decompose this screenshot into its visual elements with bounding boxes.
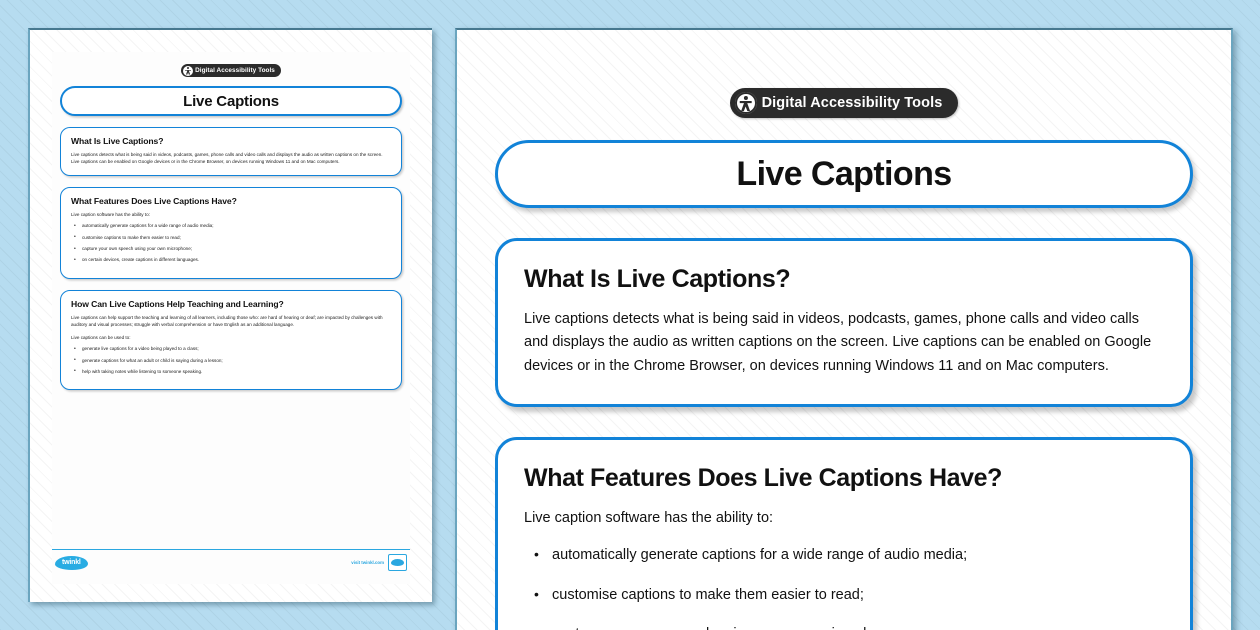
thumbnail-card-1-paragraph: Live captions detects what is being said…: [71, 151, 391, 166]
preview-content-area: Digital Accessibility Tools Live Caption…: [457, 30, 1231, 630]
list-item: customise captions to make them easier t…: [524, 585, 1164, 607]
thumbnail-accessibility-badge: Digital Accessibility Tools: [181, 64, 281, 77]
list-item: generate captions for what an adult or c…: [71, 358, 391, 365]
list-item: capture your own speech using your own m…: [524, 624, 1164, 630]
thumbnail-card-2: What Features Does Live Captions Have? L…: [60, 187, 402, 279]
thumbnail-page-title: Live Captions: [183, 93, 279, 110]
thumbnail-card-2-heading: What Features Does Live Captions Have?: [71, 196, 391, 206]
preview-card-2-list: automatically generate captions for a wi…: [524, 545, 1164, 630]
preview-title-box: Live Captions: [495, 140, 1193, 208]
thumbnail-footer-right: visit twinkl.com: [351, 554, 407, 571]
twinkl-cloud-logo-icon: [388, 554, 407, 571]
preview-card-2: What Features Does Live Captions Have? L…: [495, 437, 1193, 630]
list-item: customise captions to make them easier t…: [71, 235, 391, 242]
preview-card-1-heading: What Is Live Captions?: [524, 265, 1164, 294]
accessibility-person-icon: [735, 92, 757, 114]
thumbnail-card-3-paragraph-1: Live captions can help support the teach…: [71, 314, 391, 329]
list-item: generate live captions for a video being…: [71, 346, 391, 353]
twinkl-logo[interactable]: twinkl: [55, 556, 88, 570]
list-item: help with taking notes while listening t…: [71, 369, 391, 376]
document-thumbnail-page[interactable]: Digital Accessibility Tools Live Caption…: [28, 28, 432, 602]
thumbnail-card-3-paragraph-2: Live captions can be used to:: [71, 334, 391, 341]
preview-badge-label: Digital Accessibility Tools: [762, 95, 943, 111]
thumbnail-footer: twinkl visit twinkl.com: [52, 549, 410, 575]
thumbnail-title-box: Live Captions: [60, 86, 402, 116]
preview-card-2-heading: What Features Does Live Captions Have?: [524, 464, 1164, 493]
preview-card-1: What Is Live Captions? Live captions det…: [495, 238, 1193, 407]
thumbnail-badge-row: Digital Accessibility Tools: [52, 64, 410, 77]
preview-card-1-paragraph: Live captions detects what is being said…: [524, 308, 1164, 378]
list-item: on certain devices, create captions in d…: [71, 257, 391, 264]
thumbnail-card-3-list: generate live captions for a video being…: [71, 346, 391, 376]
visit-twinkl-link[interactable]: visit twinkl.com: [351, 560, 384, 565]
list-item: automatically generate captions for a wi…: [524, 545, 1164, 567]
accessibility-person-icon: [183, 66, 193, 76]
thumbnail-card-2-list: automatically generate captions for a wi…: [71, 223, 391, 264]
thumbnail-content-area: Digital Accessibility Tools Live Caption…: [52, 52, 410, 584]
page-title: Live Captions: [736, 155, 951, 194]
list-item: capture your own speech using your own m…: [71, 246, 391, 253]
thumbnail-card-1-heading: What Is Live Captions?: [71, 136, 391, 146]
thumbnail-card-3: How Can Live Captions Help Teaching and …: [60, 290, 402, 390]
document-preview-page[interactable]: Digital Accessibility Tools Live Caption…: [455, 28, 1233, 630]
list-item: automatically generate captions for a wi…: [71, 223, 391, 230]
thumbnail-card-1: What Is Live Captions? Live captions det…: [60, 127, 402, 176]
thumbnail-card-3-heading: How Can Live Captions Help Teaching and …: [71, 299, 391, 309]
preview-card-2-paragraph: Live caption software has the ability to…: [524, 507, 1164, 530]
preview-accessibility-badge: Digital Accessibility Tools: [730, 88, 959, 118]
thumbnail-card-2-paragraph: Live caption software has the ability to…: [71, 211, 391, 218]
preview-badge-row: Digital Accessibility Tools: [495, 88, 1193, 118]
thumbnail-badge-label: Digital Accessibility Tools: [195, 67, 275, 74]
